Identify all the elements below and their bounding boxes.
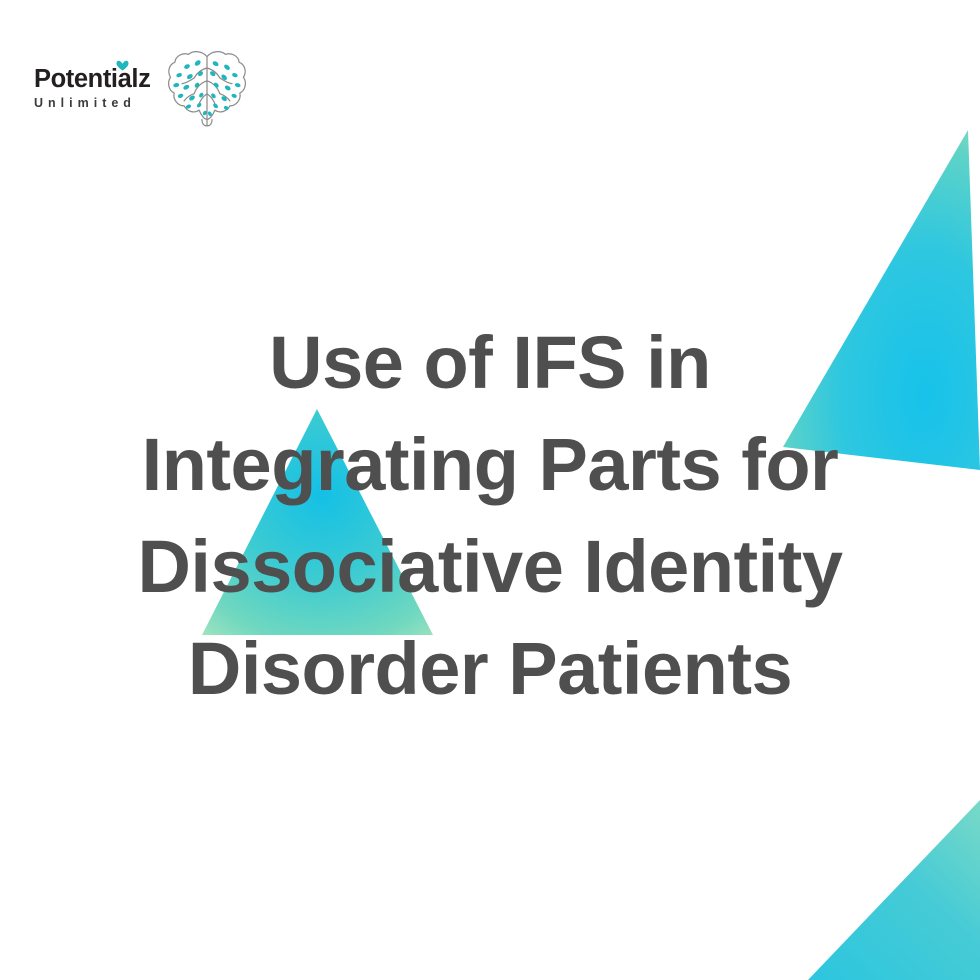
page-title-line-4: Disorder Patients	[0, 618, 980, 720]
logo-name: Potentialz	[34, 65, 150, 93]
leaf-icon	[116, 60, 129, 71]
logo-name-row: Potentialz	[34, 67, 150, 93]
brain-icon	[164, 48, 250, 128]
logo-tagline: Unlimited	[34, 97, 150, 110]
logo-wordmark: Potentialz Unlimited	[34, 67, 150, 110]
title-card-canvas: Potentialz Unlimited	[0, 0, 980, 980]
page-title: Use of IFS in Integrating Parts for Diss…	[0, 312, 980, 720]
bottom-right-corner-triangle	[808, 800, 980, 980]
page-title-line-1: Use of IFS in	[0, 312, 980, 414]
brand-logo: Potentialz Unlimited	[34, 48, 250, 128]
page-title-line-2: Integrating Parts for	[0, 414, 980, 516]
page-title-line-3: Dissociative Identity	[0, 516, 980, 618]
